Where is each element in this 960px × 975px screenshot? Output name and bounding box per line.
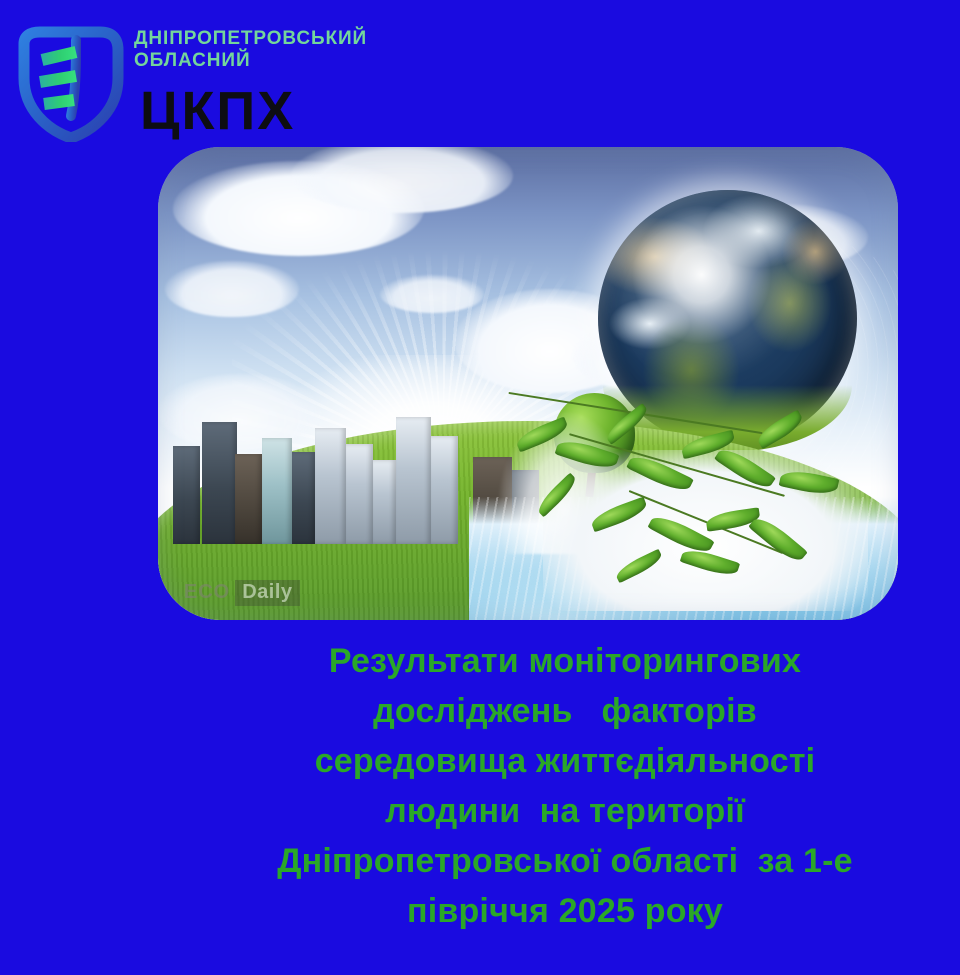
leaf: [680, 545, 740, 579]
leaf: [534, 472, 580, 517]
watermark-part-1: ECO: [184, 581, 230, 604]
leaf: [588, 497, 648, 532]
presentation-slide: ДНІПРОПЕТРОВСЬКИЙ ОБЛАСНИЙ ЦКПХ: [0, 0, 960, 975]
foliage-branch: [498, 393, 898, 620]
logo-text: ДНІПРОПЕТРОВСЬКИЙ ОБЛАСНИЙ: [134, 28, 424, 72]
building: [292, 452, 315, 545]
building: [396, 417, 431, 544]
title-line: людини на території: [170, 786, 960, 836]
organization-logo: ДНІПРОПЕТРОВСЬКИЙ ОБЛАСНИЙ ЦКПХ: [8, 22, 428, 142]
building: [202, 422, 237, 544]
image-watermark: ECO Daily: [184, 580, 300, 606]
logo-line-2: ОБЛАСНИЙ: [134, 50, 424, 72]
leaf: [748, 512, 808, 566]
building: [235, 454, 262, 544]
title-line: середовища життєдіяльності: [170, 736, 960, 786]
cloud: [380, 275, 484, 313]
logo-line-1: ДНІПРОПЕТРОВСЬКИЙ: [134, 28, 424, 50]
hero-image: ECO Daily: [158, 147, 898, 620]
title-line: півріччя 2025 року: [170, 886, 960, 936]
logo-abbreviation: ЦКПХ: [140, 82, 295, 140]
building: [315, 428, 346, 545]
building: [262, 438, 293, 544]
leaf: [614, 548, 665, 583]
leaf: [755, 410, 806, 449]
title-line: Дніпропетровської області за 1-е: [170, 836, 960, 886]
building: [346, 444, 373, 545]
building: [431, 436, 458, 545]
building: [373, 460, 396, 545]
slide-title: Результати моніторингових досліджень фак…: [170, 636, 960, 936]
building: [173, 446, 200, 544]
shield-logo-icon: [14, 26, 126, 142]
leaf: [779, 468, 840, 499]
watermark-part-2: Daily: [235, 580, 299, 606]
title-line: Результати моніторингових: [170, 636, 960, 686]
leaf: [714, 443, 776, 493]
title-line: досліджень факторів: [170, 686, 960, 736]
